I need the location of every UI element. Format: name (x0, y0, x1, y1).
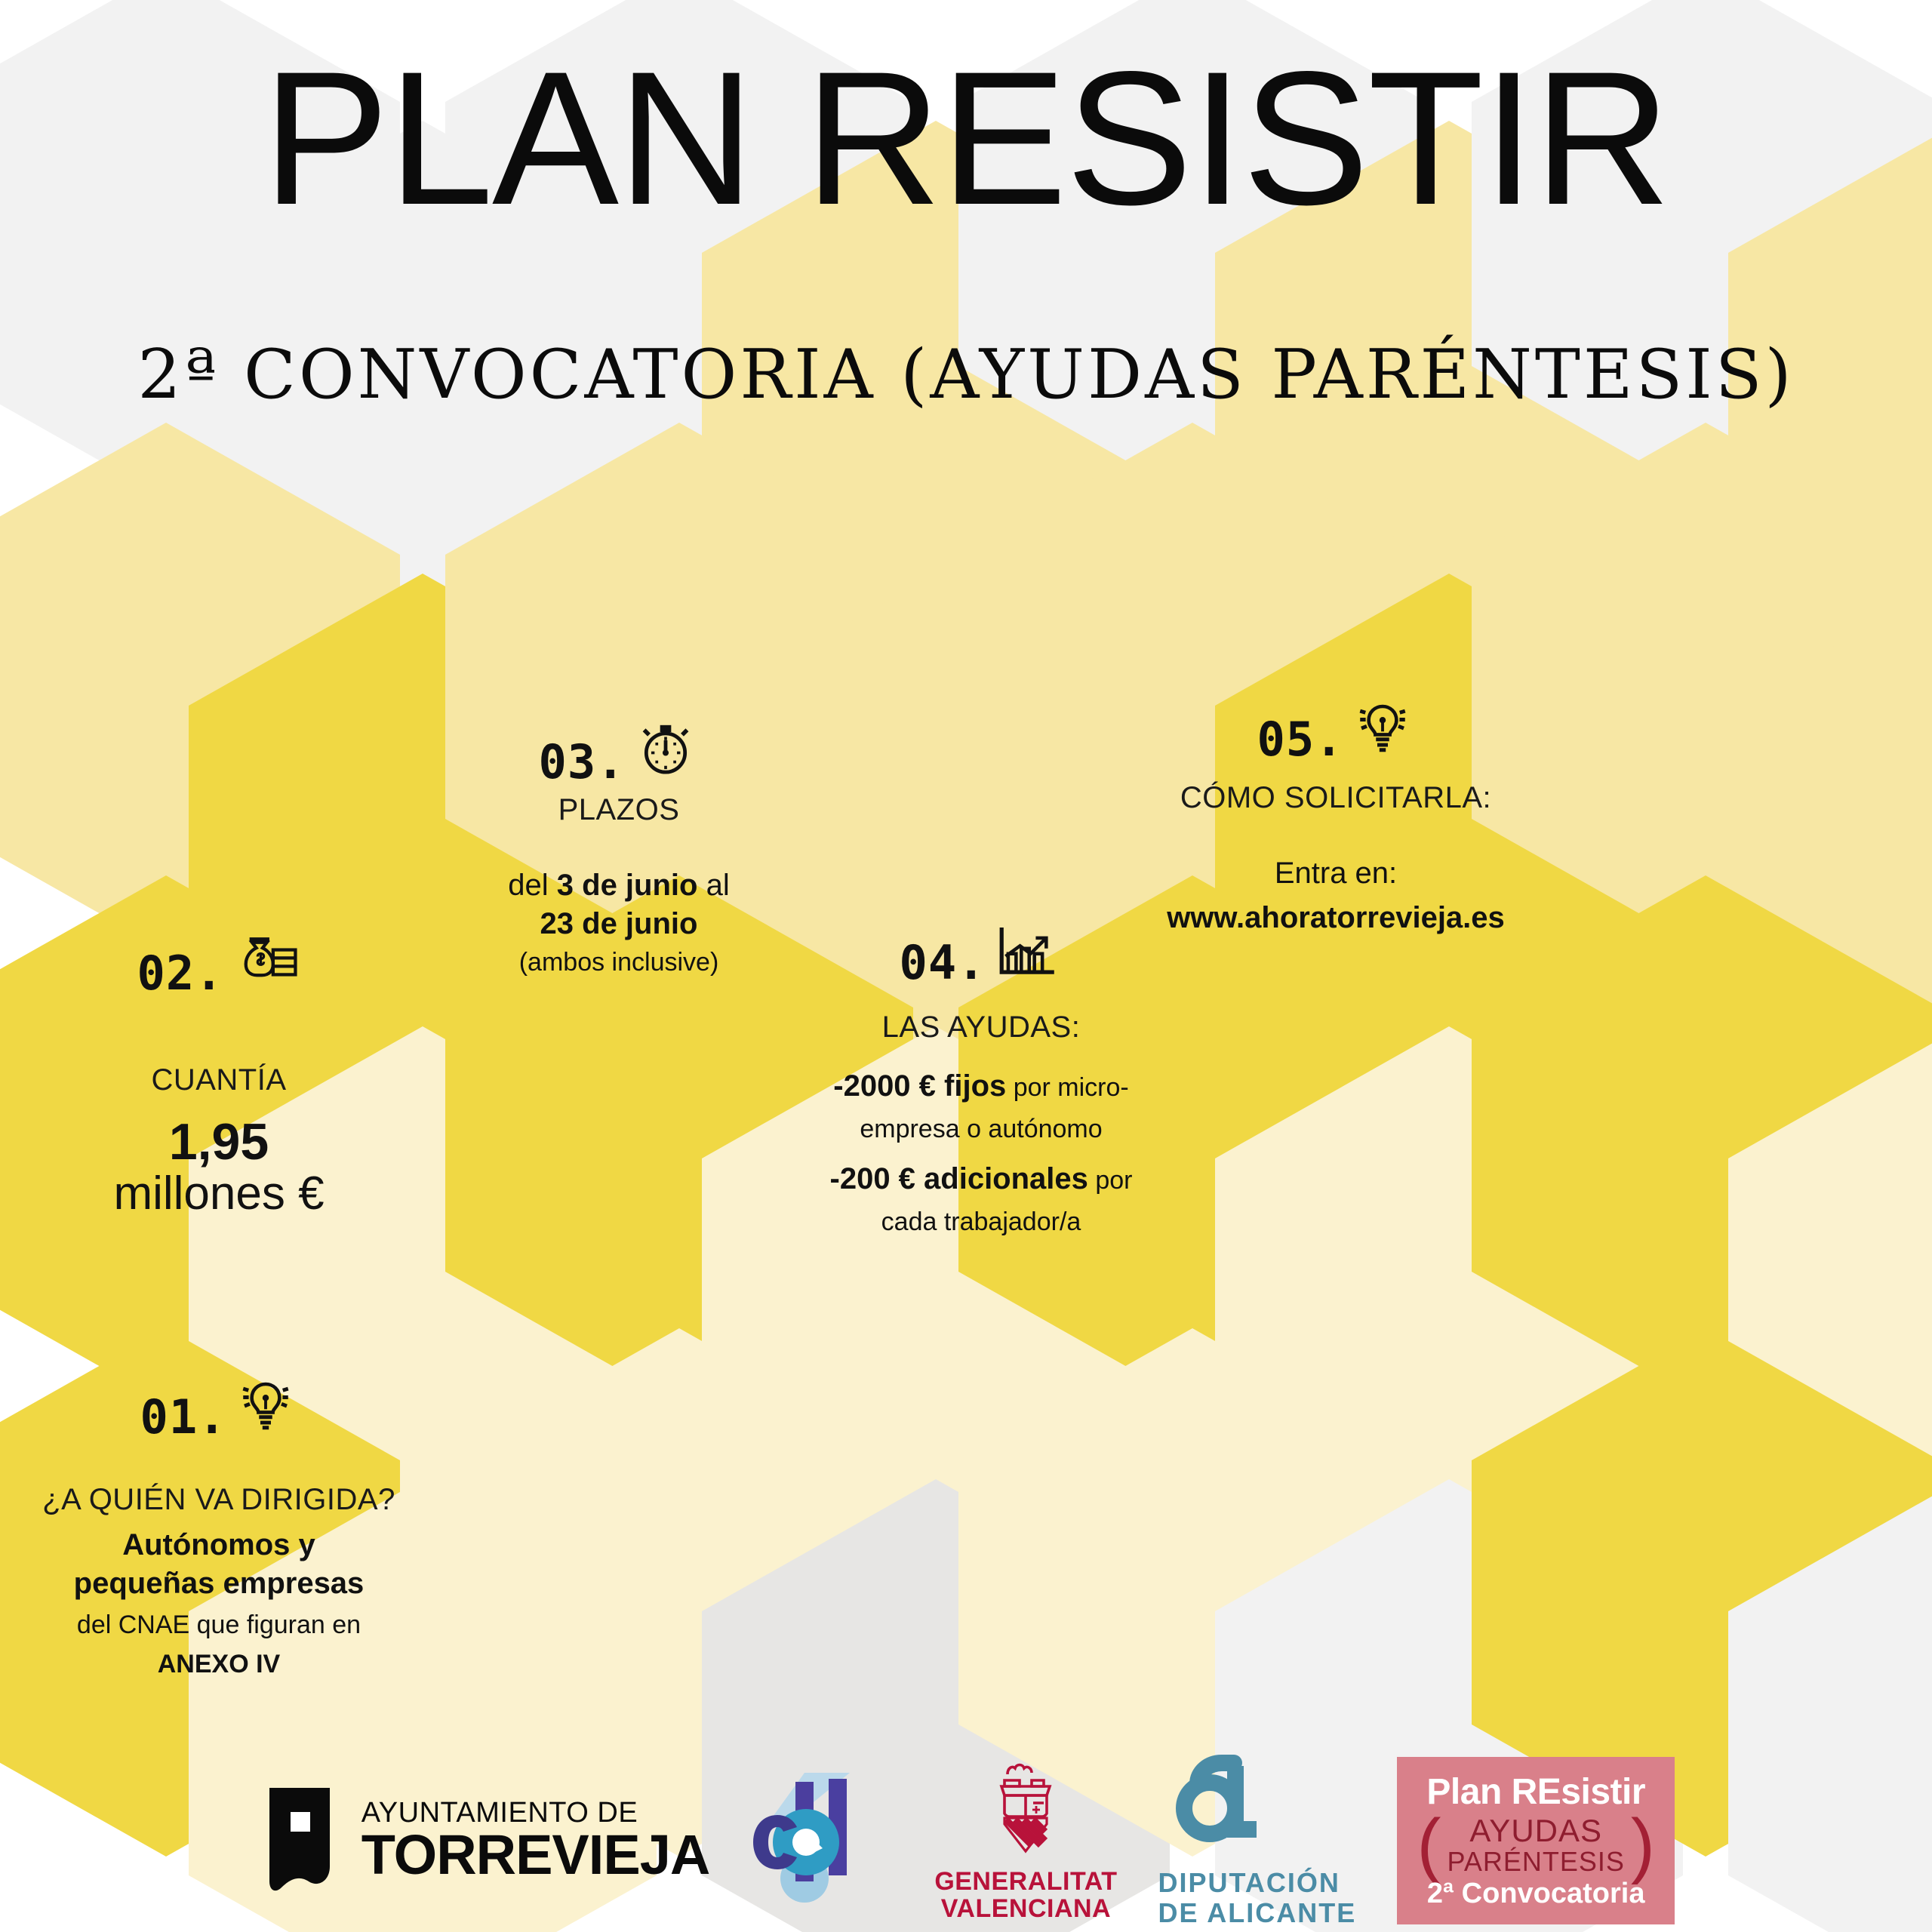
stopwatch-icon (632, 715, 699, 786)
info-cell-como-solicitarla: 05. CÓMO SOLICITARLA: En (1124, 664, 1547, 1041)
cell-number-03: 03. (539, 739, 626, 786)
growth-chart-icon (993, 922, 1063, 986)
range-to: 23 de junio (508, 905, 729, 943)
generalitat-line-2: VALENCIANA (941, 1896, 1111, 1923)
cell-title-cuantia: CUANTÍA (151, 1063, 286, 1097)
ayuda-2-rest: por (1088, 1166, 1133, 1195)
badge-line-3: PARÉNTESIS (1447, 1847, 1625, 1876)
info-cell-a-quien-va-dirigida: 01. ¿A QUIÉN VA DIRIGIDA? (15, 1351, 423, 1774)
generalitat-crest-icon (986, 1759, 1065, 1863)
adl-logo-icon (750, 1764, 894, 1918)
cell-title-las-ayudas: LAS AYUDAS: (882, 1011, 1081, 1044)
range-from: 3 de junio (557, 869, 698, 902)
badge-paren-left: ( (1417, 1817, 1441, 1875)
cell-title-como-solicitarla: CÓMO SOLICITARLA: (1180, 781, 1491, 815)
poster-canvas: PLAN RESISTIR 2ª CONVOCATORIA (AYUDAS PA… (0, 0, 1932, 1932)
lightbulb-icon (1351, 696, 1414, 763)
dirigida-line-1: Autónomos y (74, 1526, 365, 1564)
badge-line-2: AYUDAS (1469, 1814, 1602, 1848)
ayuda-1-bold: -2000 € fijos (833, 1069, 1006, 1103)
lightbulb-icon (234, 1374, 297, 1441)
cell-number-05: 05. (1257, 716, 1344, 763)
range-prefix: del (508, 869, 557, 902)
cuantia-unit: millones € (113, 1169, 324, 1218)
cta-url[interactable]: www.ahoratorrevieja.es (1167, 899, 1505, 937)
generalitat-line-1: GENERALITAT (934, 1869, 1117, 1896)
info-cell-cuantia: 02. CUANTÍA 1,95 millones € (30, 891, 408, 1283)
cell-number-02: 02. (137, 950, 224, 997)
badge-paren-right: ) (1631, 1817, 1655, 1875)
dirigida-line-4: ANEXO IV (74, 1648, 365, 1681)
logo-ayuntamiento-torrevieja: AYUNTAMIENTO DE TORREVIEJA (257, 1779, 710, 1903)
page-title: PLAN RESISTIR (0, 44, 1932, 234)
diputacion-dl-icon (1174, 1754, 1285, 1863)
ayuda-item-2: -200 € adicionales por (830, 1160, 1133, 1198)
cell-number-04: 04. (900, 940, 986, 986)
diputacion-line-1: DIPUTACIÓN (1158, 1868, 1340, 1898)
torrevieja-tower-icon (257, 1779, 342, 1903)
logo-adl (750, 1764, 894, 1918)
ayuda-2-bold: -200 € adicionales (830, 1162, 1088, 1195)
range-middle: al (697, 869, 729, 902)
plazos-range-line1: del 3 de junio al (508, 866, 729, 905)
range-note: (ambos inclusive) (508, 946, 729, 980)
info-cell-plazos: 03. (438, 679, 800, 1072)
logo-diputacion-alicante: DIPUTACIÓN DE ALICANTE (1158, 1754, 1357, 1927)
cell-title-a-quien-va-dirigida: ¿A QUIÉN VA DIRIGIDA? (42, 1483, 395, 1517)
ayuda-1-cont: empresa o autónomo (830, 1113, 1133, 1146)
dirigida-line-2: pequeñas empresas (74, 1564, 365, 1603)
logo-generalitat-valenciana: GENERALITAT VALENCIANA (934, 1759, 1117, 1922)
cell-title-plazos: PLAZOS (558, 793, 680, 827)
info-cell-las-ayudas: 04. LAS AYUDAS: -2000 € fijos por micro- (792, 891, 1170, 1298)
footer-logos: AYUNTAMIENTO DE TORREVIEJA (0, 1749, 1932, 1932)
ayuda-item-1: -2000 € fijos por micro- (830, 1067, 1133, 1106)
page-subtitle: 2ª CONVOCATORIA (AYUDAS PARÉNTESIS) (0, 341, 1932, 409)
torrevieja-line-2: TORREVIEJA (361, 1827, 710, 1883)
badge-line-1: Plan REsistir (1426, 1771, 1645, 1813)
ayuda-2-cont: cada trabajador/a (830, 1206, 1133, 1239)
badge-line-4: 2ª Convocatoria (1427, 1878, 1645, 1910)
cta-label: Entra en: (1167, 854, 1505, 893)
cell-number-01: 01. (140, 1394, 227, 1441)
money-bag-icon (231, 931, 300, 997)
ayuda-1-rest: por micro- (1006, 1073, 1128, 1102)
cuantia-amount: 1,95 (113, 1115, 324, 1169)
plan-resistir-badge: Plan REsistir ( AYUDAS PARÉNTESIS ) 2ª C… (1397, 1757, 1675, 1924)
dirigida-line-3: del CNAE que figuran en (74, 1609, 365, 1642)
diputacion-line-2: DE ALICANTE (1158, 1898, 1357, 1928)
